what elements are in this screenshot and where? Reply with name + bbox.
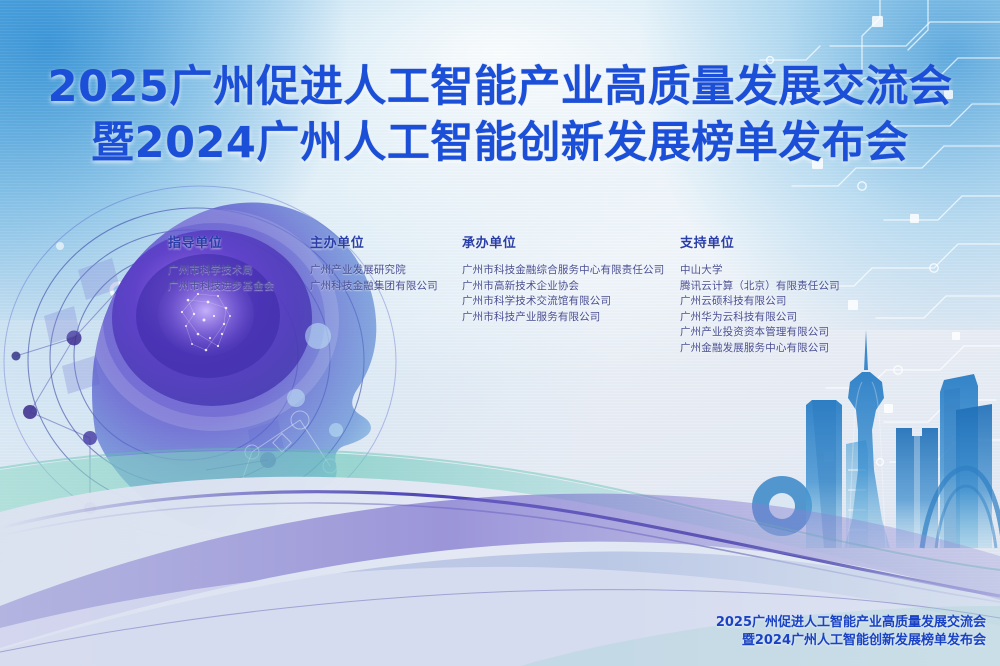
org-column-host: 主办单位 广州产业发展研究院 广州科技金融集团有限公司: [310, 232, 462, 294]
footer-event-title: 2025广州促进人工智能产业高质量发展交流会 暨2024广州人工智能创新发展榜单…: [716, 614, 986, 650]
org-item: 广州云硕科技有限公司: [680, 294, 880, 310]
org-item: 广州市高新技术企业协会: [462, 279, 680, 295]
event-title-line-1: 2025广州促进人工智能产业高质量发展交流会: [0, 62, 1000, 113]
arch-structure: [922, 468, 1000, 548]
org-item-list: 广州市科学技术局 广州市科技进步基金会: [168, 263, 310, 294]
conference-backdrop-banner: 2025广州促进人工智能产业高质量发展交流会 暨2024广州人工智能创新发展榜单…: [0, 0, 1000, 666]
canton-tower: [844, 330, 890, 548]
org-item: 广州产业发展研究院: [310, 263, 462, 279]
org-column-organizer: 承办单位 广州市科技金融综合服务中心有限责任公司 广州市高新技术企业协会 广州市…: [462, 232, 680, 325]
org-item: 广州华为云科技有限公司: [680, 310, 880, 326]
org-item-list: 广州产业发展研究院 广州科技金融集团有限公司: [310, 263, 462, 294]
footer-title-line-2: 暨2024广州人工智能创新发展榜单发布会: [716, 632, 986, 650]
org-item: 广州产业投资资本管理有限公司: [680, 325, 880, 341]
org-column-supporter: 支持单位 中山大学 腾讯云计算（北京）有限责任公司 广州云硕科技有限公司 广州华…: [680, 232, 880, 356]
org-item: 广州金融发展服务中心有限公司: [680, 341, 880, 357]
org-item-list: 中山大学 腾讯云计算（北京）有限责任公司 广州云硕科技有限公司 广州华为云科技有…: [680, 263, 880, 356]
organization-columns: 指导单位 广州市科学技术局 广州市科技进步基金会 主办单位 广州产业发展研究院 …: [168, 232, 868, 356]
org-item-list: 广州市科技金融综合服务中心有限责任公司 广州市高新技术企业协会 广州市科学技术交…: [462, 263, 680, 325]
org-heading: 承办单位: [462, 232, 680, 251]
arch-structure-inner: [936, 486, 996, 548]
org-item: 广州市科技金融综合服务中心有限责任公司: [462, 263, 680, 279]
org-item: 广州市科技进步基金会: [168, 279, 310, 295]
org-column-guiding: 指导单位 广州市科学技术局 广州市科技进步基金会: [168, 232, 310, 294]
org-item: 广州市科技产业服务有限公司: [462, 310, 680, 326]
footer-title-line-1: 2025广州促进人工智能产业高质量发展交流会: [716, 614, 986, 632]
org-item: 广州市科学技术局: [168, 263, 310, 279]
org-item: 腾讯云计算（北京）有限责任公司: [680, 279, 880, 295]
org-heading: 主办单位: [310, 232, 462, 251]
org-heading: 指导单位: [168, 232, 310, 251]
org-item: 广州科技金融集团有限公司: [310, 279, 462, 295]
event-title-line-2: 暨2024广州人工智能创新发展榜单发布会: [0, 118, 1000, 169]
org-heading: 支持单位: [680, 232, 880, 251]
org-item: 广州市科学技术交流馆有限公司: [462, 294, 680, 310]
guangzhou-circle-building: [752, 476, 812, 536]
org-item: 中山大学: [680, 263, 880, 279]
event-title: 2025广州促进人工智能产业高质量发展交流会 暨2024广州人工智能创新发展榜单…: [0, 62, 1000, 168]
